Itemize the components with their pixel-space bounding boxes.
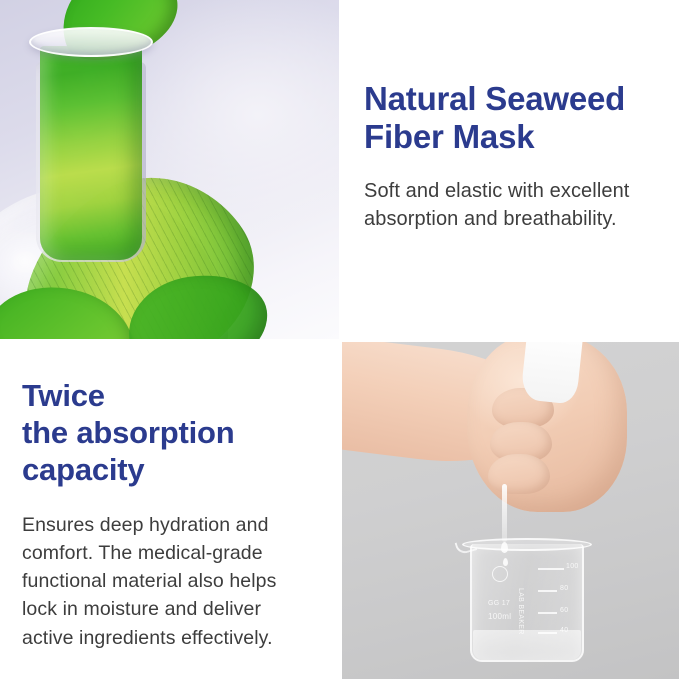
- beaker-graduation-mark: [538, 632, 557, 634]
- beaker-brand-label: LAB BEAKER: [517, 588, 524, 635]
- seaweed-bottle-photo: [0, 0, 339, 339]
- bottle-lip-ring: [29, 27, 153, 57]
- absorption-headline-line-1: Twice: [22, 378, 105, 413]
- headline-line-2: Fiber Mask: [364, 118, 534, 155]
- absorption-title: Twice the absorption capacity: [22, 378, 317, 489]
- headline-line-1: Natural Seaweed: [364, 80, 625, 117]
- beaker-graduation-mark: [538, 568, 564, 570]
- absorption-headline-line-2: the absorption: [22, 415, 234, 450]
- beaker-graduation-mark: [538, 612, 557, 614]
- beaker-graduation-mark: [538, 590, 557, 592]
- seaweed-mask-text-block: Natural Seaweed Fiber Mask Soft and elas…: [342, 0, 679, 339]
- beaker-capacity-label: 100ml: [488, 612, 511, 621]
- absorption-description: Ensures deep hydration and comfort. The …: [22, 511, 317, 652]
- absorption-capacity-text-block: Twice the absorption capacity Ensures de…: [0, 342, 339, 679]
- finger-segment: [488, 454, 550, 494]
- beaker-liquid: [473, 630, 581, 660]
- essence-stream: [502, 484, 507, 542]
- absorption-headline-line-3: capacity: [22, 452, 144, 487]
- beaker-brand-icon: [492, 566, 508, 582]
- beaker-code-label: GG 17: [488, 600, 510, 607]
- hand-squeezing-mask-photo: 100 80 60 40 GG 17 100ml LAB BEAKER: [342, 342, 679, 679]
- beaker-rim: [462, 538, 592, 551]
- beaker-graduation-label: 60: [560, 607, 568, 614]
- beaker-graduation-label: 40: [560, 627, 568, 634]
- product-feature-infographic: Natural Seaweed Fiber Mask Soft and elas…: [0, 0, 679, 679]
- seaweed-mask-description: Soft and elastic with excellent absorpti…: [364, 177, 657, 234]
- beaker-graduation-label: 100: [566, 563, 579, 570]
- seaweed-extract-fill: [40, 46, 142, 260]
- beaker-graduation-label: 80: [560, 585, 568, 592]
- page-title: Natural Seaweed Fiber Mask: [364, 80, 657, 157]
